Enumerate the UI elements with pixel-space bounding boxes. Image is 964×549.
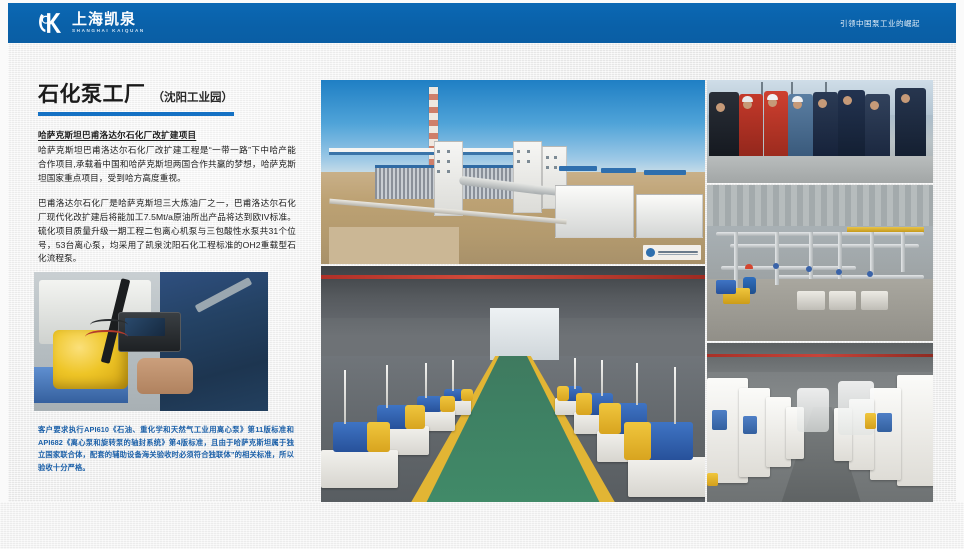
piping-valve [773,263,779,269]
workshop-crane-beam [707,354,933,357]
title-subtitle: （沈阳工业园） [153,89,234,105]
delegation-person [709,92,738,156]
aisle-pump-column [386,365,388,407]
photo-piping-hall [707,185,933,341]
aisle-pump-skid [628,457,705,497]
kaiquan-logo-icon [38,10,66,36]
plant-shed-3 [644,170,686,175]
piping-motor [716,280,736,294]
aisle-pump-coupling-cap [557,386,569,400]
aisle-pump-coupling-cap [405,405,424,429]
plant-yard [329,227,460,264]
plant-tower-2 [513,141,542,213]
workshop-pump-motor [712,410,728,431]
brand-logo[interactable]: 上海凯泉 SHANGHAI KAIQUAN [38,10,145,36]
article-text-column: 石化泵工厂 （沈阳工业园） 哈萨克斯坦巴甫洛达尔石化厂改扩建项目 哈萨克斯坦巴甫… [38,78,296,266]
workshop-pump-unit [870,388,902,480]
slide-page: 上海凯泉 SHANGHAI KAIQUAN 引领中国泵工业的崛起 石化泵工厂 （… [0,0,964,549]
header-tagline: 引领中国泵工业的崛起 [840,18,920,29]
piping-riser [901,232,905,273]
aisle-pump-column [574,358,576,389]
plant-heat-exchanger-bank-1 [375,165,436,199]
plant-shed-1 [559,166,597,171]
article-caption: 客户要求执行API610《石油、重化学和天然气工业用离心泵》第11版标准和API… [38,424,294,474]
workshop-pump-unit [897,375,933,486]
article-paragraph-1: 哈萨克斯坦巴甫洛达尔石化厂改扩建工程是“一带一路”下中哈产能合作项目,承载着中国… [38,144,296,186]
aisle-pump-coupling-cap [599,403,620,434]
workshop-yellow-guard [865,413,876,429]
piping-riser [775,232,779,285]
page-edge-right [956,0,964,549]
analyzer-worker-hand [137,358,193,394]
aisle-pump-column [601,360,603,395]
delegation-hard-hat [767,94,778,100]
piping-branch-pipe [775,275,924,279]
page-edge-left [0,0,8,549]
title-underline-rule [38,112,234,116]
delegation-ground [707,156,933,183]
delegation-person [895,88,927,156]
photo-watermark [643,245,701,260]
aisle-pump-coupling-cap [440,396,455,413]
plant-building-1 [555,185,634,239]
delegation-person-head [870,101,879,110]
workshop-protective-wrap [797,388,829,433]
piping-pump-skid [861,291,888,310]
aisle-pump-column [636,363,638,405]
aisle-pump-column [425,363,427,398]
aisle-pump-column [674,367,676,424]
title-main: 石化泵工厂 [38,78,146,108]
page-title: 石化泵工厂 （沈阳工业园） [38,78,296,108]
plant-building-2 [636,194,703,238]
aisle-pump-coupling-cap [576,393,591,414]
photo-factory-aisle [321,266,705,502]
aisle-pump-coupling-cap [367,422,390,453]
brand-name-en: SHANGHAI KAIQUAN [72,29,145,34]
aisle-pump-motor [333,422,371,453]
watermark-logo-icon [646,248,655,257]
piping-pump-skid [797,291,824,310]
piping-worker-hard-hat [745,264,753,269]
workshop-yellow-guard [707,473,718,486]
workshop-roof [707,343,933,372]
aisle-overhead-crane-beam [321,275,705,279]
aisle-pump-coupling-cap [461,389,473,401]
aisle-pump-skid [321,450,398,488]
piping-riser [870,232,874,276]
piping-roof [707,185,933,226]
photo-vibration-analyzer [34,272,268,411]
delegation-hard-hat [792,96,803,102]
analyzer-device-screen [125,318,165,336]
aisle-pump-column [452,360,454,391]
photo-plant-exterior [321,80,705,264]
photo-delegation-visit [707,80,933,183]
delegation-person-head [818,99,827,108]
brand-name-cn: 上海凯泉 [72,12,145,27]
piping-header-pipe [730,244,920,248]
article-paragraph-2: 巴甫洛达尔石化厂是哈萨克斯坦三大炼油厂之一，巴甫洛达尔石化厂现代化改扩建后将能加… [38,197,296,267]
piping-header-pipe [716,232,924,236]
delegation-hard-hat [742,96,753,102]
photo-white-pumps-workshop [707,343,933,502]
article-lead-heading: 哈萨克斯坦巴甫洛达尔石化厂改扩建项目 [38,129,296,141]
aisle-pump-coupling-cap [624,422,651,460]
piping-pump-skid [829,291,856,310]
watermark-text-lines [658,250,698,256]
plant-shed-2 [601,168,636,173]
workshop-pump-motor [743,416,757,433]
aisle-pump-motor [647,422,693,460]
site-header: 上海凯泉 SHANGHAI KAIQUAN 引领中国泵工业的崛起 [8,3,956,43]
aisle-far-windows [490,308,559,360]
aisle-pump-column [344,370,346,424]
workshop-pump-motor [877,413,893,432]
delegation-person-head [716,103,725,112]
page-footer-band [0,502,964,549]
